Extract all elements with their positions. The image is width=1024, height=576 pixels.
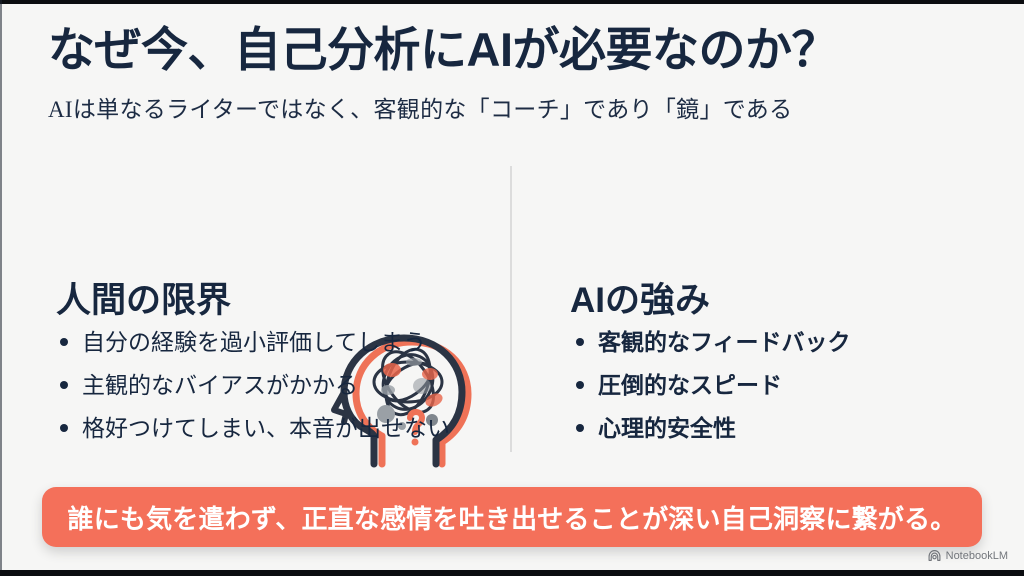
key-message-text: 誰にも気を遣わず、正直な感情を吐き出せることが深い自己洞察に繋がる。 — [68, 499, 957, 536]
list-item: 格好つけてしまい、本音が出せない — [56, 414, 450, 443]
list-item: 圧倒的なスピード — [572, 371, 851, 400]
list-item: 心理的安全性 — [572, 414, 851, 443]
list-item: 客観的なフィードバック — [572, 328, 851, 357]
list-item: 主観的なバイアスがかかる — [56, 371, 450, 400]
column-divider — [510, 166, 512, 452]
watermark-label: NotebookLM — [946, 550, 1008, 562]
key-message-banner: 誰にも気を遣わず、正直な感情を吐き出せることが深い自己洞察に繋がる。 — [42, 487, 982, 547]
notebooklm-logo-icon — [928, 549, 941, 562]
column-heading-human-limits: 人間の限界 — [56, 272, 231, 323]
letterbox-bar-top — [0, 0, 1024, 4]
page-subtitle: AIは単なるライターではなく、客観的な「コーチ」であり「鏡」である — [48, 90, 968, 124]
page-title: なぜ今、自己分析にAIが必要なのか？ — [48, 24, 968, 77]
bullet-list-human-limits: 自分の経験を過小評価してしまう 主観的なバイアスがかかる 格好つけてしまい、本音… — [56, 328, 450, 456]
watermark: NotebookLM — [928, 549, 1008, 562]
letterbox-bar-bottom — [0, 570, 1024, 576]
bullet-list-ai-strengths: 客観的なフィードバック 圧倒的なスピード 心理的安全性 — [572, 328, 851, 456]
slide-left-edge — [0, 0, 2, 576]
slide-header: なぜ今、自己分析にAIが必要なのか？ AIは単なるライターではなく、客観的な「コ… — [48, 24, 968, 124]
column-heading-ai-strengths: AIの強み — [570, 272, 710, 323]
slide-canvas: なぜ今、自己分析にAIが必要なのか？ AIは単なるライターではなく、客観的な「コ… — [0, 0, 1024, 576]
list-item: 自分の経験を過小評価してしまう — [56, 328, 450, 357]
